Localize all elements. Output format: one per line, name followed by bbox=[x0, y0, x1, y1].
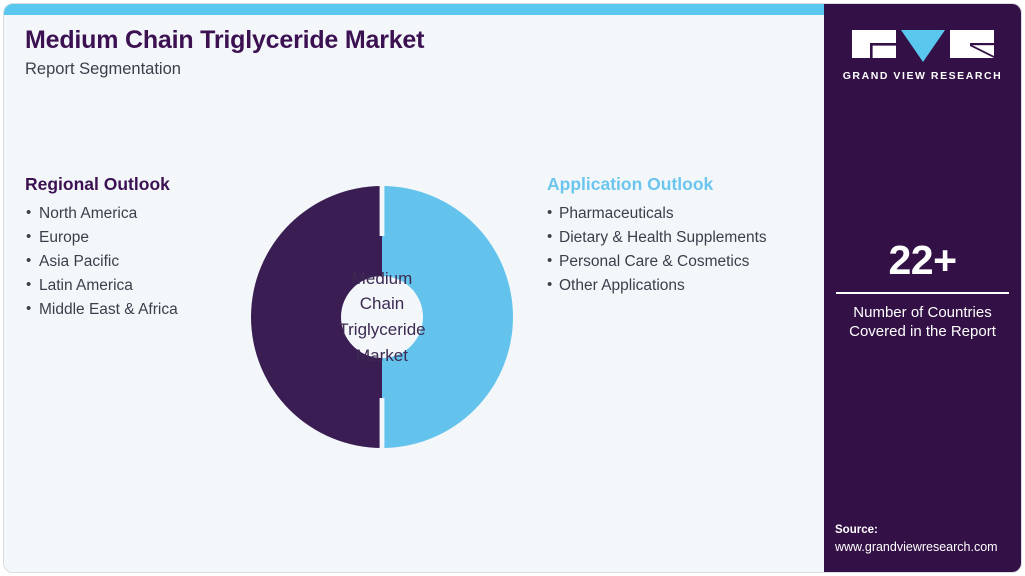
list-item: Asia Pacific bbox=[25, 250, 250, 274]
list-item: Dietary & Health Supplements bbox=[547, 226, 827, 250]
regional-outlook-heading: Regional Outlook bbox=[25, 174, 250, 195]
brand-logo: GRAND VIEW RESEARCH bbox=[824, 30, 1021, 82]
donut-gap-bottom bbox=[380, 398, 385, 450]
application-outlook-section: Application Outlook Pharmaceuticals Diet… bbox=[547, 174, 827, 298]
application-outlook-list: Pharmaceuticals Dietary & Health Supplem… bbox=[547, 202, 827, 298]
logo-marks bbox=[852, 30, 994, 62]
regional-outlook-list: North America Europe Asia Pacific Latin … bbox=[25, 202, 250, 322]
header-block: Medium Chain Triglyceride Market Report … bbox=[25, 26, 785, 80]
stat-value: 22+ bbox=[834, 240, 1011, 281]
main-content-region: Medium Chain Triglyceride Market Report … bbox=[4, 4, 824, 572]
donut-slice-application bbox=[382, 186, 513, 448]
sidebar-panel: GRAND VIEW RESEARCH 22+ Number of Countr… bbox=[824, 4, 1021, 572]
stat-caption: Number of Countries Covered in the Repor… bbox=[834, 303, 1011, 341]
donut-chart-svg bbox=[237, 172, 527, 462]
list-item: Latin America bbox=[25, 274, 250, 298]
infographic-root: Medium Chain Triglyceride Market Report … bbox=[0, 0, 1025, 576]
top-accent-bar bbox=[4, 4, 824, 15]
source-label: Source: bbox=[835, 522, 998, 538]
donut-chart: Medium Chain Triglyceride Market bbox=[237, 172, 527, 462]
list-item: Pharmaceuticals bbox=[547, 202, 827, 226]
stat-caption-line: Covered in the Report bbox=[834, 322, 1011, 341]
donut-slice-regional bbox=[251, 186, 382, 448]
stat-block: 22+ Number of Countries Covered in the R… bbox=[834, 240, 1011, 341]
regional-outlook-section: Regional Outlook North America Europe As… bbox=[25, 174, 250, 322]
donut-gap-top bbox=[380, 184, 385, 236]
stat-divider bbox=[836, 292, 1009, 294]
application-outlook-heading: Application Outlook bbox=[547, 174, 827, 195]
list-item: Personal Care & Cosmetics bbox=[547, 250, 827, 274]
source-block: Source: www.grandviewresearch.com bbox=[835, 522, 998, 556]
infographic-card: Medium Chain Triglyceride Market Report … bbox=[3, 3, 1022, 573]
page-subtitle: Report Segmentation bbox=[25, 60, 785, 80]
logo-triangle-v-icon bbox=[901, 30, 945, 62]
stat-caption-line: Number of Countries bbox=[834, 303, 1011, 322]
list-item: Other Applications bbox=[547, 274, 827, 298]
list-item: North America bbox=[25, 202, 250, 226]
page-title: Medium Chain Triglyceride Market bbox=[25, 26, 785, 54]
source-url[interactable]: www.grandviewresearch.com bbox=[835, 539, 998, 557]
logo-wordmark: GRAND VIEW RESEARCH bbox=[843, 70, 1003, 82]
logo-letter-r-icon bbox=[950, 30, 994, 58]
list-item: Europe bbox=[25, 226, 250, 250]
logo-letter-g-icon bbox=[852, 30, 896, 58]
list-item: Middle East & Africa bbox=[25, 298, 250, 322]
